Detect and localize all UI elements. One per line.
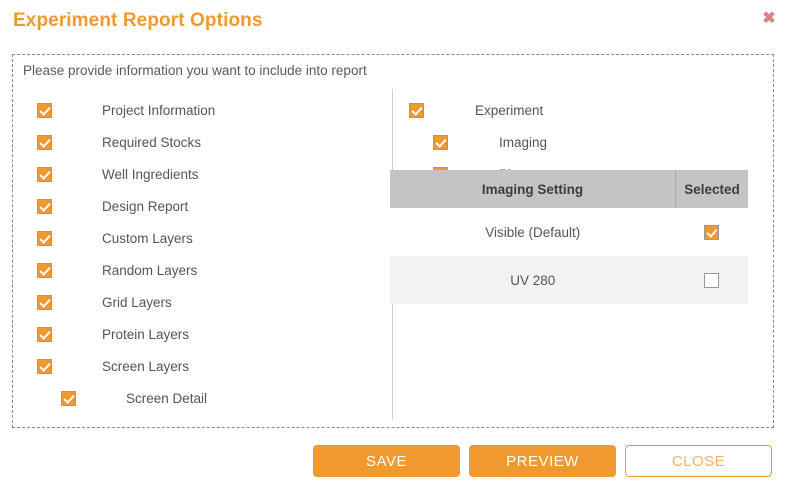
cell-selected bbox=[676, 256, 749, 304]
option-label: Design Report bbox=[102, 199, 188, 214]
option-label: Screen Layers bbox=[102, 359, 189, 374]
page-title: Experiment Report Options bbox=[13, 10, 263, 32]
left-option-row[interactable]: Required Stocks bbox=[37, 131, 52, 153]
right-option-row[interactable]: Experiment bbox=[409, 99, 424, 121]
option-label: Screen Detail bbox=[126, 391, 207, 406]
save-button[interactable]: SAVE bbox=[313, 445, 460, 477]
checkbox-protein-layers[interactable] bbox=[37, 327, 52, 342]
close-button[interactable]: CLOSE bbox=[625, 445, 772, 477]
checkbox-design-report[interactable] bbox=[37, 199, 52, 214]
table-row[interactable]: UV 280 bbox=[390, 256, 748, 304]
left-option-row[interactable]: Protein Layers bbox=[37, 323, 52, 345]
checkbox-screen-detail[interactable] bbox=[61, 391, 76, 406]
right-option-row[interactable]: Imaging bbox=[433, 131, 448, 153]
option-label: Custom Layers bbox=[102, 231, 193, 246]
imaging-table-body: Visible (Default)UV 280 bbox=[390, 208, 748, 304]
table-header-row: Imaging Setting Selected bbox=[390, 170, 748, 208]
close-x-icon[interactable]: ✖ bbox=[760, 10, 778, 28]
checkbox-custom-layers[interactable] bbox=[37, 231, 52, 246]
cell-imaging-setting-name: UV 280 bbox=[390, 256, 676, 304]
checkbox-random-layers[interactable] bbox=[37, 263, 52, 278]
imaging-table-head: Imaging Setting Selected bbox=[390, 170, 748, 208]
left-option-row[interactable]: Screen Detail bbox=[61, 387, 76, 409]
cell-imaging-setting-name: Visible (Default) bbox=[390, 208, 676, 256]
cell-selected bbox=[676, 208, 749, 256]
left-option-row[interactable]: Custom Layers bbox=[37, 227, 52, 249]
checkbox-visible-default-[interactable] bbox=[704, 225, 719, 240]
checkbox-experiment[interactable] bbox=[409, 103, 424, 118]
checkbox-required-stocks[interactable] bbox=[37, 135, 52, 150]
left-option-row[interactable]: Well Ingredients bbox=[37, 163, 52, 185]
checkbox-uv-280[interactable] bbox=[704, 273, 719, 288]
panel-hint-text: Please provide information you want to i… bbox=[23, 63, 367, 78]
option-label: Experiment bbox=[475, 103, 543, 118]
option-label: Random Layers bbox=[102, 263, 197, 278]
option-label: Project Information bbox=[102, 103, 215, 118]
option-label: Well Ingredients bbox=[102, 167, 199, 182]
checkbox-project-information[interactable] bbox=[37, 103, 52, 118]
option-label: Protein Layers bbox=[102, 327, 189, 342]
column-header-imaging-setting: Imaging Setting bbox=[390, 170, 676, 208]
left-option-row[interactable]: Screen Layers bbox=[37, 355, 52, 377]
imaging-setting-table: Imaging Setting Selected Visible (Defaul… bbox=[390, 170, 748, 304]
checkbox-imaging[interactable] bbox=[433, 135, 448, 150]
table-row[interactable]: Visible (Default) bbox=[390, 208, 748, 256]
checkbox-grid-layers[interactable] bbox=[37, 295, 52, 310]
checkbox-screen-layers[interactable] bbox=[37, 359, 52, 374]
dialog-footer: SAVE PREVIEW CLOSE bbox=[0, 440, 787, 487]
option-label: Imaging bbox=[499, 135, 547, 150]
left-option-row[interactable]: Random Layers bbox=[37, 259, 52, 281]
left-option-row[interactable]: Project Information bbox=[37, 99, 52, 121]
option-label: Grid Layers bbox=[102, 295, 172, 310]
left-option-row[interactable]: Design Report bbox=[37, 195, 52, 217]
preview-button[interactable]: PREVIEW bbox=[469, 445, 616, 477]
column-header-selected: Selected bbox=[676, 170, 749, 208]
dialog-header: Experiment Report Options ✖ bbox=[0, 0, 787, 46]
checkbox-well-ingredients[interactable] bbox=[37, 167, 52, 182]
left-option-row[interactable]: Grid Layers bbox=[37, 291, 52, 313]
option-label: Required Stocks bbox=[102, 135, 201, 150]
